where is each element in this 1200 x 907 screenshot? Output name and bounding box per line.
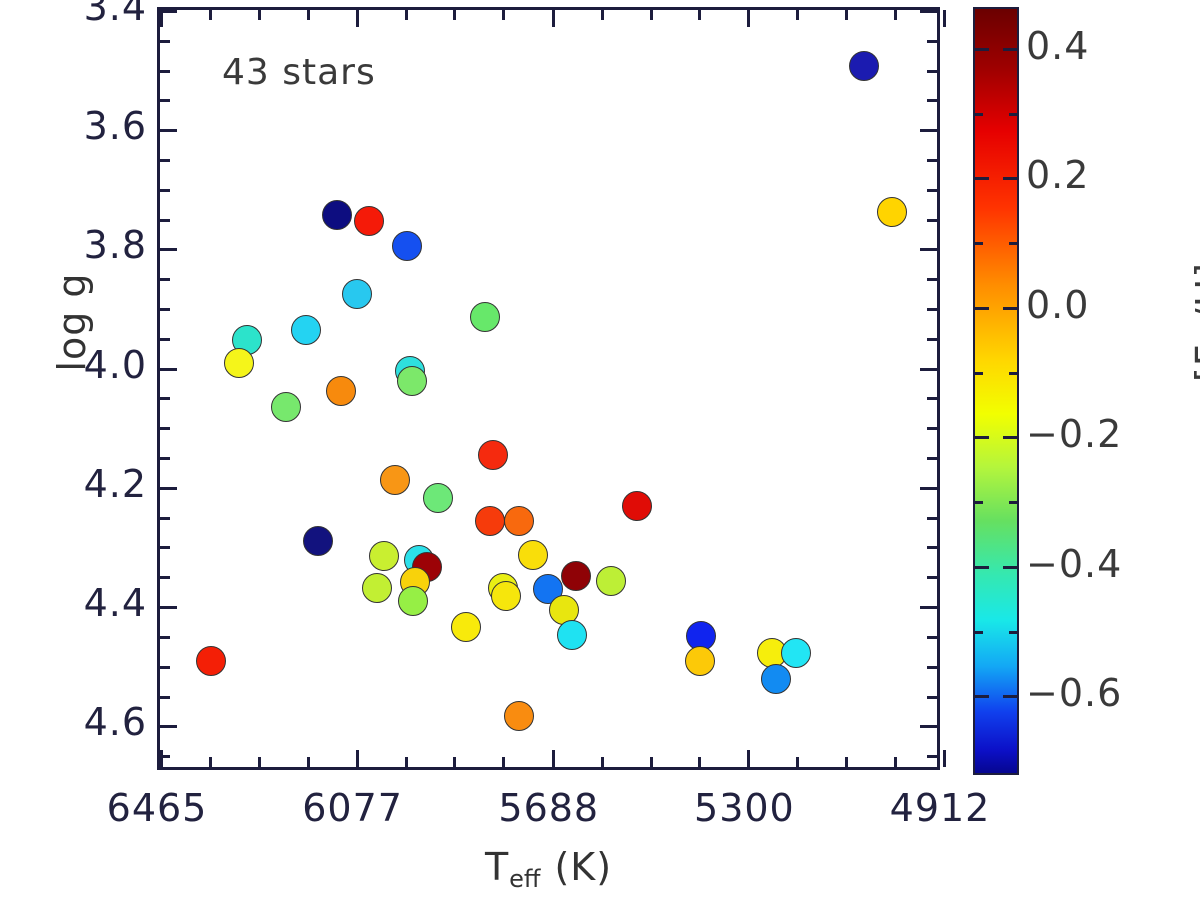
annotation-star-count: 43 stars (222, 52, 376, 93)
colorbar-tick (975, 566, 989, 569)
colorbar-tick-label: −0.6 (1026, 671, 1122, 715)
x-tick-label: 6077 (258, 786, 448, 830)
colorbar-tick-minor (1009, 242, 1017, 245)
x-tick-label: 4912 (845, 786, 1035, 830)
data-point (271, 392, 301, 422)
data-point (303, 526, 333, 556)
data-point (224, 348, 254, 378)
data-point (423, 483, 453, 513)
axis-tick (943, 750, 946, 767)
x-axis-title: Teff(K) (157, 845, 940, 889)
data-point (849, 51, 879, 81)
data-point (557, 620, 587, 650)
colorbar-tick (1003, 177, 1017, 180)
colorbar-tick-label: −0.2 (1026, 412, 1122, 456)
data-point (354, 206, 384, 236)
data-point (397, 366, 427, 396)
colorbar-tick (975, 695, 989, 698)
data-point (877, 197, 907, 227)
data-point (196, 646, 226, 676)
data-point (761, 664, 791, 694)
colorbar-tick-label: −0.4 (1026, 542, 1122, 586)
data-point (362, 573, 392, 603)
y-tick-label: 3.6 (17, 104, 147, 148)
y-axis-title: log g (50, 232, 94, 412)
x-axis-title-subscript: eff (509, 865, 540, 893)
y-tick-label: 3.4 (17, 0, 147, 29)
colorbar-tick-label: 0.4 (1026, 24, 1089, 68)
x-axis-tick-labels: 64656077568853004912 (157, 786, 940, 836)
data-point (398, 586, 428, 616)
colorbar-tick (975, 177, 989, 180)
data-point (596, 566, 626, 596)
colorbar-tick-minor (1009, 372, 1017, 375)
colorbar-tick-minor (1009, 631, 1017, 634)
colorbar-tick-minor (975, 372, 983, 375)
colorbar-tick (1003, 307, 1017, 310)
data-point (504, 701, 534, 731)
colorbar-tick (1003, 695, 1017, 698)
data-point (561, 561, 591, 591)
x-tick-label: 6465 (62, 786, 252, 830)
data-point (491, 581, 521, 611)
colorbar-tick-minor (975, 242, 983, 245)
colorbar-gradient (975, 9, 1017, 773)
axis-tick (943, 10, 946, 27)
colorbar-tick-minor (975, 113, 983, 116)
colorbar-tick-minor (975, 501, 983, 504)
colorbar-tick-labels: 0.40.20.0−0.2−0.4−0.6 (1026, 7, 1146, 775)
data-point (451, 612, 481, 642)
data-point (478, 440, 508, 470)
x-axis-title-unit: (K) (554, 845, 612, 889)
data-point (326, 376, 356, 406)
colorbar-tick (975, 307, 989, 310)
data-point (392, 231, 422, 261)
colorbar-tick (1003, 48, 1017, 51)
colorbar-tick-label: 0.2 (1026, 153, 1089, 197)
data-point (622, 491, 652, 521)
colorbar-tick-label: 0.0 (1026, 283, 1089, 327)
colorbar-tick (1003, 566, 1017, 569)
data-point (369, 541, 399, 571)
data-points-layer (160, 10, 937, 767)
colorbar-title: [Fe/H] (1188, 197, 1200, 447)
x-axis-title-main: T (485, 845, 509, 889)
y-tick-label: 4.6 (17, 700, 147, 744)
colorbar-tick-minor (1009, 113, 1017, 116)
x-tick-label: 5300 (649, 786, 839, 830)
data-point (322, 200, 352, 230)
colorbar-tick (975, 48, 989, 51)
data-point (685, 646, 715, 676)
data-point (342, 279, 372, 309)
data-point (504, 506, 534, 536)
data-point (470, 302, 500, 332)
colorbar-tick (1003, 436, 1017, 439)
colorbar (973, 7, 1019, 775)
colorbar-tick-minor (975, 631, 983, 634)
y-tick-label: 4.4 (17, 581, 147, 625)
data-point (380, 465, 410, 495)
scatter-plot-figure: 3.43.63.84.04.24.44.6 log g 43 stars 646… (0, 0, 1200, 907)
colorbar-tick-minor (1009, 501, 1017, 504)
data-point (518, 540, 548, 570)
data-point (781, 638, 811, 668)
y-tick-label: 4.2 (17, 462, 147, 506)
data-point (475, 506, 505, 536)
x-tick-label: 5688 (454, 786, 644, 830)
plot-area: 43 stars (157, 7, 940, 770)
data-point (291, 315, 321, 345)
colorbar-tick (975, 436, 989, 439)
